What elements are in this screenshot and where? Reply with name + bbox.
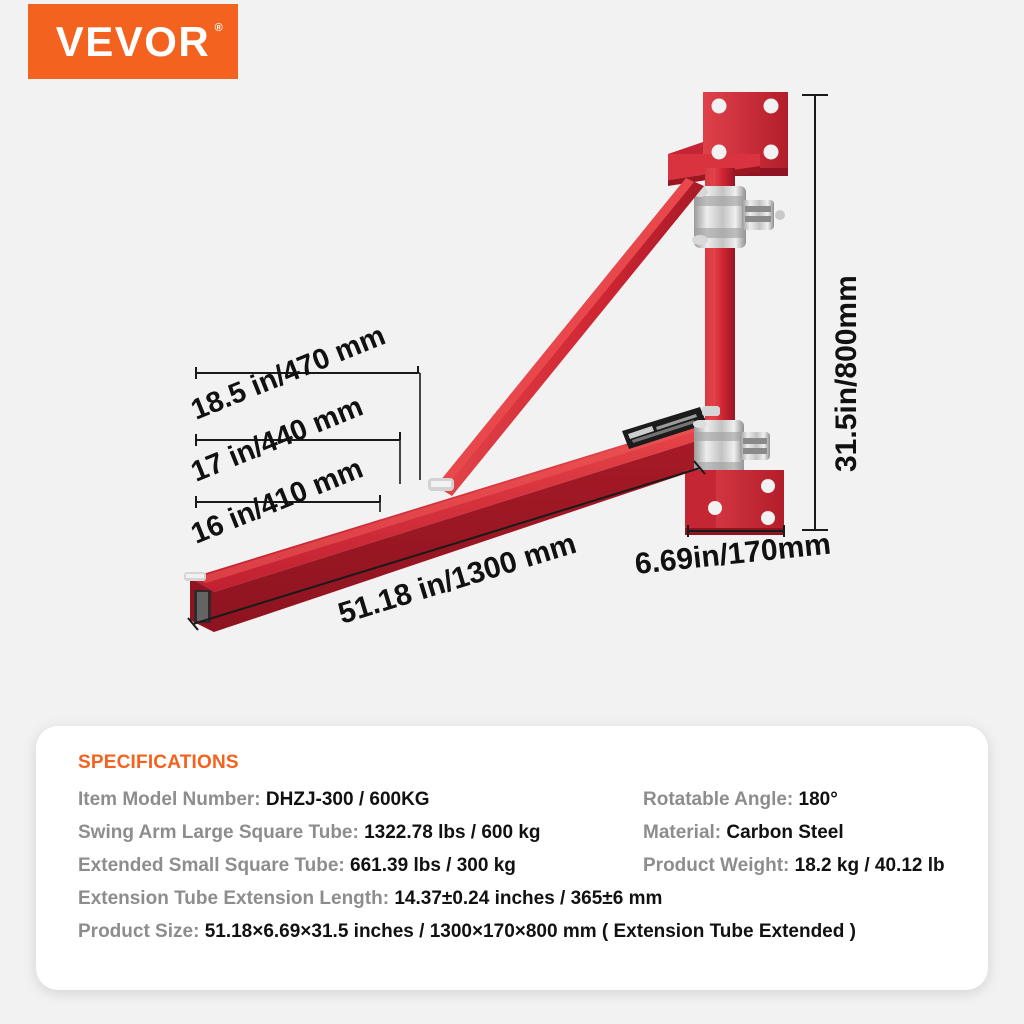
spec-label: Rotatable Angle: (643, 789, 793, 810)
spec-row-extended-small-square-tube: Extended Small Square Tube: 661.39 lbs /… (78, 849, 643, 882)
spec-row-extension-tube-extension-length: Extension Tube Extension Length: 14.37±0… (78, 882, 958, 915)
spec-value: 180° (799, 789, 838, 810)
spec-value: 18.2 kg / 40.12 lb (795, 855, 945, 876)
spec-label: Extension Tube Extension Length: (78, 888, 389, 909)
spec-value: 14.37±0.24 inches / 365±6 mm (394, 888, 662, 909)
dimension-label-post-height: 31.5in/800mm (830, 275, 863, 472)
spec-row-rotatable-angle: Rotatable Angle: 180° (643, 783, 958, 816)
arm-pivot-bolt (428, 478, 454, 491)
spec-row-item-model-number: Item Model Number: DHZJ-300 / 600KG (78, 783, 643, 816)
spec-row-material: Material: Carbon Steel (643, 816, 958, 849)
spec-value: 51.18×6.69×31.5 inches / 1300×170×800 mm… (205, 921, 856, 942)
spec-value: 1322.78 lbs / 600 kg (364, 822, 540, 843)
spec-value: Carbon Steel (726, 822, 843, 843)
spec-row-swing-arm-large-square-tube: Swing Arm Large Square Tube: 1322.78 lbs… (78, 816, 643, 849)
specifications-grid: Item Model Number: DHZJ-300 / 600KG Rota… (78, 783, 958, 948)
spec-row-product-weight: Product Weight: 18.2 kg / 40.12 lb (643, 849, 958, 882)
spec-label: Product Size: (78, 921, 199, 942)
upper-swivel-clamp (692, 186, 785, 248)
spec-label: Extended Small Square Tube: (78, 855, 345, 876)
dimension-label-bracket-depth: 6.69in/170mm (633, 528, 832, 581)
bottom-wall-bracket (685, 470, 784, 535)
spec-value: DHZJ-300 / 600KG (266, 789, 430, 810)
product-diagram: 18.5 in/470 mm 17 in/440 mm 16 in/410 mm… (0, 0, 1024, 700)
spec-row-product-size: Product Size: 51.18×6.69×31.5 inches / 1… (78, 915, 958, 948)
spec-label: Swing Arm Large Square Tube: (78, 822, 359, 843)
dimension-leader-lines (380, 373, 420, 512)
spec-label: Item Model Number: (78, 789, 261, 810)
specifications-title: SPECIFICATIONS (78, 752, 958, 774)
spec-value: 661.39 lbs / 300 kg (350, 855, 516, 876)
spec-label: Product Weight: (643, 855, 789, 876)
specifications-card: SPECIFICATIONS Item Model Number: DHZJ-3… (36, 726, 988, 990)
spec-label: Material: (643, 822, 721, 843)
